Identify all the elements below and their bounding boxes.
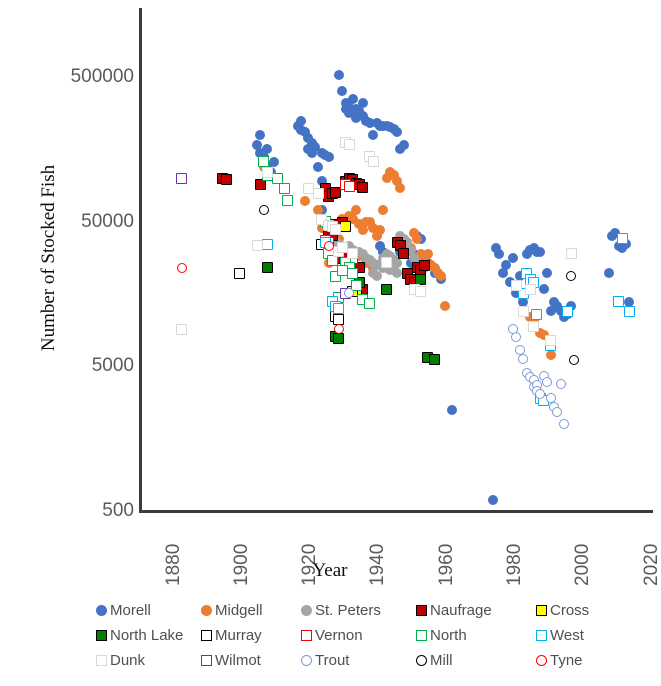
legend-item-morell[interactable]: Morell (96, 602, 151, 619)
data-point-naufrage (255, 179, 266, 190)
data-point-naufrage (419, 260, 430, 271)
data-point-st-peters (372, 271, 382, 281)
legend-item-murray[interactable]: Murray (201, 627, 262, 644)
data-point-west (531, 309, 542, 320)
x-tick-label: 1960 (436, 544, 458, 586)
data-point-dunk (313, 188, 324, 199)
data-point-dunk (518, 306, 529, 317)
data-point-west (333, 303, 344, 314)
legend-label: Morell (110, 602, 151, 619)
data-point-dunk (511, 280, 522, 291)
legend-item-dunk[interactable]: Dunk (96, 652, 145, 669)
x-tick-label: 1880 (163, 544, 185, 586)
legend-swatch-square-icon (536, 605, 547, 616)
data-point-midgell (375, 225, 385, 235)
data-point-west (613, 296, 624, 307)
data-point-morell (392, 127, 402, 137)
x-tick-label: 2000 (572, 544, 594, 586)
data-point-west (617, 233, 628, 244)
data-point-dunk (368, 156, 379, 167)
legend-item-north[interactable]: North (416, 627, 467, 644)
data-point-tyne (324, 241, 334, 251)
y-tick-label: 500 (14, 501, 134, 520)
data-point-murray (234, 268, 245, 279)
data-point-morell (262, 144, 272, 154)
x-tick-label: 2020 (641, 544, 661, 586)
legend-swatch-square-icon (96, 655, 107, 666)
legend-label: Tyne (550, 652, 583, 669)
y-axis-tick-labels: 500000500005000500 (8, 0, 134, 520)
data-point-morell (447, 405, 457, 415)
data-point-dunk (415, 286, 426, 297)
legend-item-wilmot[interactable]: Wilmot (201, 652, 261, 669)
legend-swatch-circle-icon (536, 655, 547, 666)
legend-label: Murray (215, 627, 262, 644)
data-point-midgell (300, 196, 310, 206)
data-point-naufrage (398, 248, 409, 259)
x-axis-title: Year (270, 560, 390, 582)
legend-label: Wilmot (215, 652, 261, 669)
legend-swatch-square-icon (416, 630, 427, 641)
data-point-north-lake (262, 262, 273, 273)
legend-swatch-circle-icon (201, 605, 212, 616)
data-point-dunk (176, 324, 187, 335)
data-point-dunk (566, 248, 577, 259)
data-point-morell (368, 130, 378, 140)
legend-label: Midgell (215, 602, 263, 619)
data-point-dunk (528, 321, 539, 332)
data-point-west (624, 306, 635, 317)
data-point-north (258, 156, 269, 167)
data-point-west (562, 306, 573, 317)
legend-swatch-circle-icon (96, 605, 107, 616)
legend-item-trout[interactable]: Trout (301, 652, 349, 669)
data-point-dunk (381, 257, 392, 268)
data-point-north (364, 298, 375, 309)
data-point-north-lake (333, 333, 344, 344)
data-point-west (262, 239, 273, 250)
data-point-dunk (330, 224, 341, 235)
data-point-naufrage (221, 174, 232, 185)
y-tick-label: 50000 (14, 212, 134, 231)
data-point-north-lake (381, 284, 392, 295)
data-point-north (272, 173, 283, 184)
legend-item-mill[interactable]: Mill (416, 652, 453, 669)
data-point-morell (604, 268, 614, 278)
legend-label: West (550, 627, 584, 644)
legend-label: Mill (430, 652, 453, 669)
data-point-morell (324, 152, 334, 162)
data-point-tyne (177, 263, 187, 273)
legend-item-cross[interactable]: Cross (536, 602, 589, 619)
legend-label: Vernon (315, 627, 363, 644)
data-point-north (282, 195, 293, 206)
data-point-midgell (546, 350, 556, 360)
legend-swatch-square-icon (416, 605, 427, 616)
data-point-vernon (344, 181, 355, 192)
legend-item-vernon[interactable]: Vernon (301, 627, 363, 644)
legend-item-west[interactable]: West (536, 627, 584, 644)
data-point-cross (340, 221, 351, 232)
data-point-wilmot (176, 173, 187, 184)
legend-item-tyne[interactable]: Tyne (536, 652, 583, 669)
y-tick-label: 500000 (14, 67, 134, 86)
data-point-dunk (344, 139, 355, 150)
legend-label: North Lake (110, 627, 183, 644)
legend-label: Trout (315, 652, 349, 669)
data-point-north (347, 268, 358, 279)
data-point-north-lake (429, 354, 440, 365)
data-point-naufrage (357, 182, 368, 193)
data-point-dunk (252, 240, 263, 251)
legend-swatch-square-icon (536, 630, 547, 641)
legend-label: Naufrage (430, 602, 492, 619)
legend-swatch-circle-icon (301, 605, 312, 616)
legend-swatch-circle-icon (416, 655, 427, 666)
legend-item-st-peters[interactable]: St. Peters (301, 602, 381, 619)
data-point-dunk (545, 335, 556, 346)
legend-swatch-square-icon (201, 630, 212, 641)
data-point-st-peters (392, 258, 402, 268)
data-point-morell (399, 140, 409, 150)
data-point-dunk (525, 284, 536, 295)
legend-row: North LakeMurrayVernonNorthWest (96, 623, 636, 648)
legend-swatch-square-icon (96, 630, 107, 641)
legend-row: DunkWilmotTroutMillTyne (96, 648, 636, 673)
scatter-chart: Number of Stocked Fish 50000050000500050… (0, 0, 661, 686)
data-point-morell (269, 157, 279, 167)
data-point-dunk (347, 248, 358, 259)
x-tick-label: 1980 (504, 544, 526, 586)
legend-swatch-square-icon (201, 655, 212, 666)
legend-item-naufrage[interactable]: Naufrage (416, 602, 492, 619)
legend-item-north-lake[interactable]: North Lake (96, 627, 183, 644)
data-point-morell (488, 495, 498, 505)
legend-swatch-square-icon (301, 630, 312, 641)
legend-item-midgell[interactable]: Midgell (201, 602, 263, 619)
data-point-trout (556, 379, 566, 389)
legend-label: Cross (550, 602, 589, 619)
data-point-north (279, 183, 290, 194)
legend-label: Dunk (110, 652, 145, 669)
y-tick-label: 5000 (14, 356, 134, 375)
data-point-midgell (423, 249, 433, 259)
x-tick-label: 1900 (231, 544, 253, 586)
legend-row: MorellMidgellSt. PetersNaufrageCross (96, 598, 636, 623)
data-point-morell (358, 98, 368, 108)
legend-swatch-circle-icon (301, 655, 312, 666)
legend-label: North (430, 627, 467, 644)
data-point-morell (334, 70, 344, 80)
chart-legend: MorellMidgellSt. PetersNaufrageCrossNort… (96, 598, 636, 673)
data-point-north (337, 265, 348, 276)
data-point-dunk (262, 167, 273, 178)
legend-label: St. Peters (315, 602, 381, 619)
